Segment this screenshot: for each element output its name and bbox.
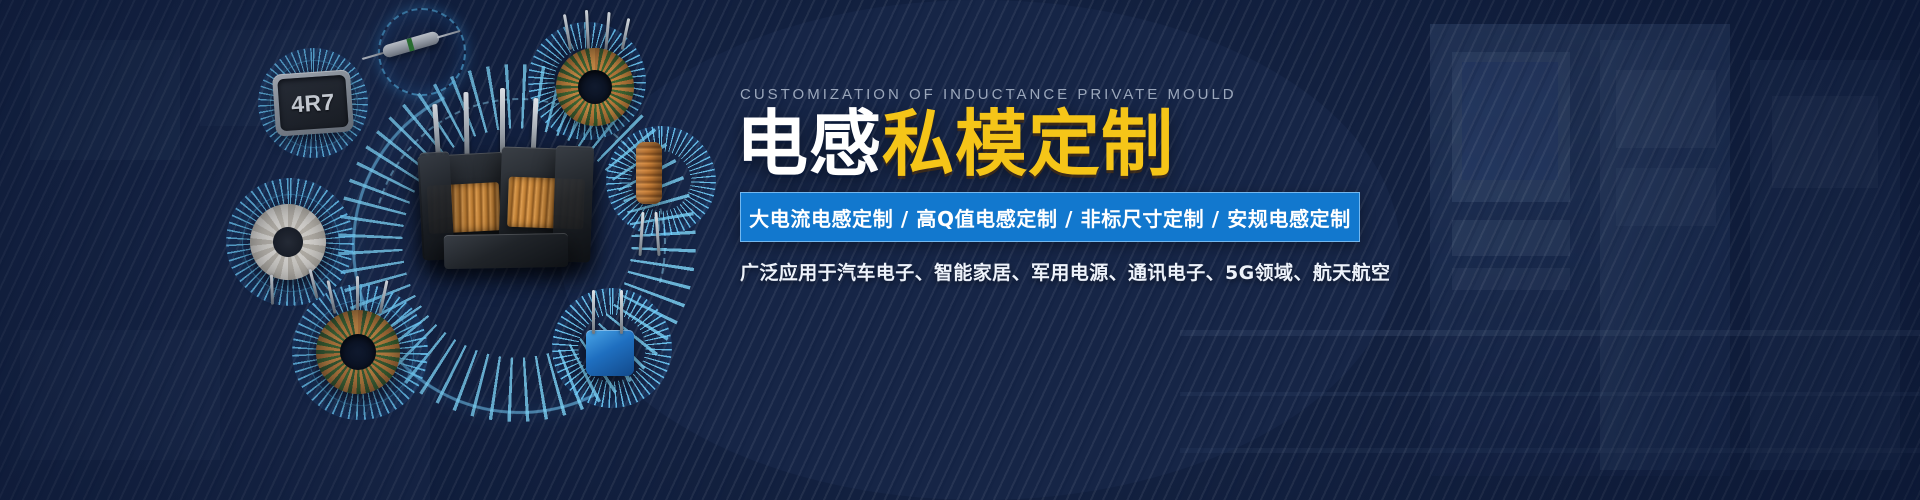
product-blue-radial-inductor: [586, 290, 634, 376]
product-green-toroid-inductor: [316, 310, 400, 394]
headline-gold-part: 私模定制: [882, 102, 1174, 186]
service-list-text: 大电流电感定制 / 高Q值电感定制 / 非标尺寸定制 / 安规电感定制: [749, 203, 1351, 232]
inductance-custom-mould-banner: 4R7: [0, 0, 1920, 500]
page-title: 电感私模定制: [736, 108, 1174, 180]
headline-white-part: 电感: [736, 102, 882, 186]
product-smd-power-inductor: 4R7: [274, 72, 352, 134]
smd-chip-code-label: 4R7: [272, 69, 354, 136]
product-common-mode-choke-block: [404, 108, 614, 293]
english-tagline: CUSTOMIZATION OF INDUCTANCE PRIVATE MOUL…: [740, 86, 1237, 103]
product-collage: 4R7: [0, 0, 740, 500]
application-fields-text: 广泛应用于汽车电子、智能家居、军用电源、通讯电子、5G领域、航天航空: [740, 258, 1390, 285]
product-rod-core-inductor: [636, 142, 662, 204]
service-list-bar: 大电流电感定制 / 高Q值电感定制 / 非标尺寸定制 / 安规电感定制: [740, 192, 1360, 242]
product-bobbin-wound-inductor: [245, 199, 331, 285]
banner-text-block: CUSTOMIZATION OF INDUCTANCE PRIVATE MOUL…: [736, 0, 1856, 500]
